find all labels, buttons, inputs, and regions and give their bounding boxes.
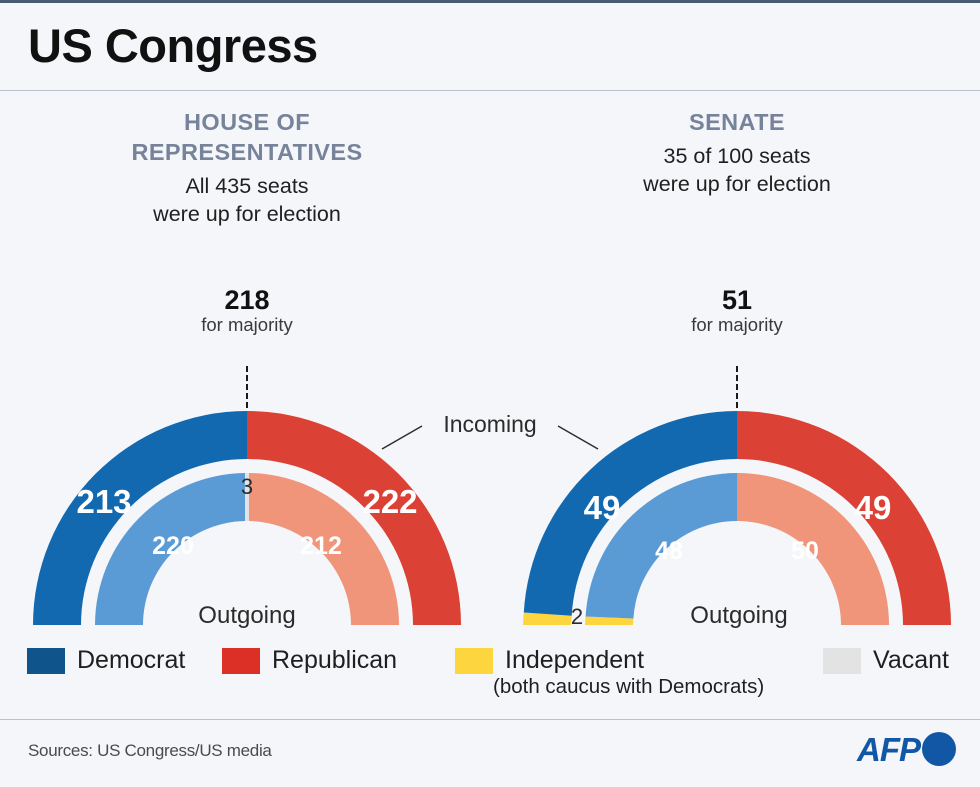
afp-logo-dot — [922, 732, 956, 766]
house-column-header: HOUSE OF REPRESENTATIVES All 435 seats w… — [27, 107, 467, 229]
legend-swatch-vacant — [823, 648, 861, 674]
senate-chamber-subtitle: 35 of 100 seats were up for election — [517, 143, 957, 199]
house-chamber-name-line1: HOUSE OF — [27, 107, 467, 137]
legend-label-democrat: Democrat — [77, 646, 185, 674]
house-chamber-subtitle: All 435 seats were up for election — [27, 173, 467, 229]
legend-item-independent: Independent (both caucus with Democrats) — [455, 646, 764, 699]
legend-swatch-democrat — [27, 648, 65, 674]
house-subtitle-line2: were up for election — [27, 201, 467, 229]
sources-text: Sources: US Congress/US media — [28, 741, 272, 761]
house-inner-republican-value: 212 — [300, 532, 342, 560]
page-title: US Congress — [28, 22, 318, 69]
legend-label-republican: Republican — [272, 646, 397, 674]
title-bar: US Congress — [0, 6, 980, 91]
legend: Democrat Republican Independent (both ca… — [0, 640, 980, 712]
senate-inner-republican-value: 50 — [791, 537, 819, 565]
afp-logo: AFP — [857, 732, 956, 766]
house-majority-marker: 218 for majority — [97, 286, 397, 337]
senate-majority-marker: 51 for majority — [587, 286, 887, 337]
house-inner-democrat-value: 220 — [152, 532, 194, 560]
senate-inner-independent-value: 2 — [571, 604, 583, 629]
house-outgoing-label: Outgoing — [198, 602, 295, 629]
incoming-label: Incoming — [380, 411, 600, 438]
house-majority-number: 218 — [97, 286, 397, 314]
senate-outer-republican-value: 49 — [855, 489, 892, 526]
senate-column-header: SENATE 35 of 100 seats were up for elect… — [517, 107, 957, 199]
afp-logo-text: AFP — [857, 733, 920, 766]
senate-majority-label: for majority — [587, 314, 887, 336]
incoming-annotation: Incoming — [380, 401, 600, 471]
house-outer-republican-value: 222 — [362, 483, 417, 520]
senate-outgoing-label: Outgoing — [690, 602, 787, 629]
house-majority-label: for majority — [97, 314, 397, 336]
legend-swatch-independent — [455, 648, 493, 674]
legend-item-democrat: Democrat — [27, 646, 185, 674]
house-outer-democrat-value: 213 — [76, 483, 131, 520]
senate-subtitle-line2: were up for election — [517, 171, 957, 199]
senate-inner-democrat-value: 48 — [655, 537, 683, 565]
house-inner-vacant-value: 3 — [241, 474, 253, 499]
footer: Sources: US Congress/US media AFP — [0, 719, 980, 787]
house-chamber-name: HOUSE OF REPRESENTATIVES — [27, 107, 467, 167]
legend-swatch-republican — [222, 648, 260, 674]
senate-chamber-name: SENATE — [517, 107, 957, 137]
legend-item-republican: Republican — [222, 646, 397, 674]
house-chamber-name-line2: REPRESENTATIVES — [27, 137, 467, 167]
legend-sublabel-independent: (both caucus with Democrats) — [493, 675, 764, 699]
legend-item-vacant: Vacant — [823, 646, 949, 674]
house-subtitle-line1: All 435 seats — [27, 173, 467, 201]
senate-subtitle-line1: 35 of 100 seats — [517, 143, 957, 171]
legend-label-independent: Independent — [505, 646, 764, 674]
infographic-page: US Congress HOUSE OF REPRESENTATIVES All… — [0, 0, 980, 784]
legend-label-vacant: Vacant — [873, 646, 949, 674]
senate-majority-number: 51 — [587, 286, 887, 314]
senate-chamber-name-line1: SENATE — [517, 107, 957, 137]
senate-outer-democrat-value: 49 — [584, 489, 621, 526]
